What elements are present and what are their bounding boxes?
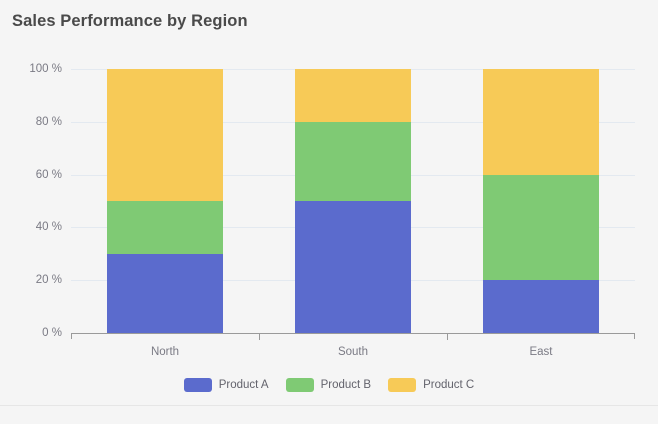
y-axis-tick-label: 100 % [29,63,62,75]
legend-item[interactable]: Product A [184,378,269,392]
bar-segment[interactable] [295,201,412,333]
y-axis-tick-label: 40 % [36,221,62,233]
plot-area: 0 %20 %40 %60 %80 %100 % NorthSouthEast [71,69,635,333]
y-axis-tick-label: 80 % [36,116,62,128]
x-axis-tick [447,334,448,340]
y-axis-tick-label: 20 % [36,274,62,286]
legend-label: Product C [423,379,474,391]
x-axis-tick [259,334,260,340]
bar-segment[interactable] [107,201,224,254]
legend-label: Product A [219,379,269,391]
x-axis-left-endcap [71,333,72,339]
legend-label: Product B [321,379,372,391]
legend-swatch [388,378,416,392]
bar-segment[interactable] [107,69,224,201]
chart-card: Sales Performance by Region 0 %20 %40 %6… [0,0,658,424]
y-axis-tick-label: 60 % [36,169,62,181]
legend-swatch [184,378,212,392]
legend-item[interactable]: Product B [286,378,372,392]
bar-series-container [71,69,635,333]
bar-group[interactable] [483,69,600,333]
bar-segment[interactable] [107,254,224,333]
card-bottom-divider [0,405,658,406]
x-axis-line [71,333,635,334]
x-axis-right-endcap [634,333,635,339]
chart-legend: Product AProduct BProduct C [0,378,658,392]
legend-swatch [286,378,314,392]
bar-segment[interactable] [295,122,412,201]
y-axis-tick-label: 0 % [42,327,62,339]
x-axis-tick-label: North [151,346,179,358]
bar-group[interactable] [107,69,224,333]
x-axis-tick-label: East [529,346,552,358]
x-axis-tick-label: South [338,346,368,358]
legend-item[interactable]: Product C [388,378,474,392]
bar-segment[interactable] [483,280,600,333]
bar-group[interactable] [295,69,412,333]
chart-title: Sales Performance by Region [12,12,248,31]
bar-segment[interactable] [483,175,600,281]
bar-segment[interactable] [295,69,412,122]
bar-segment[interactable] [483,69,600,175]
